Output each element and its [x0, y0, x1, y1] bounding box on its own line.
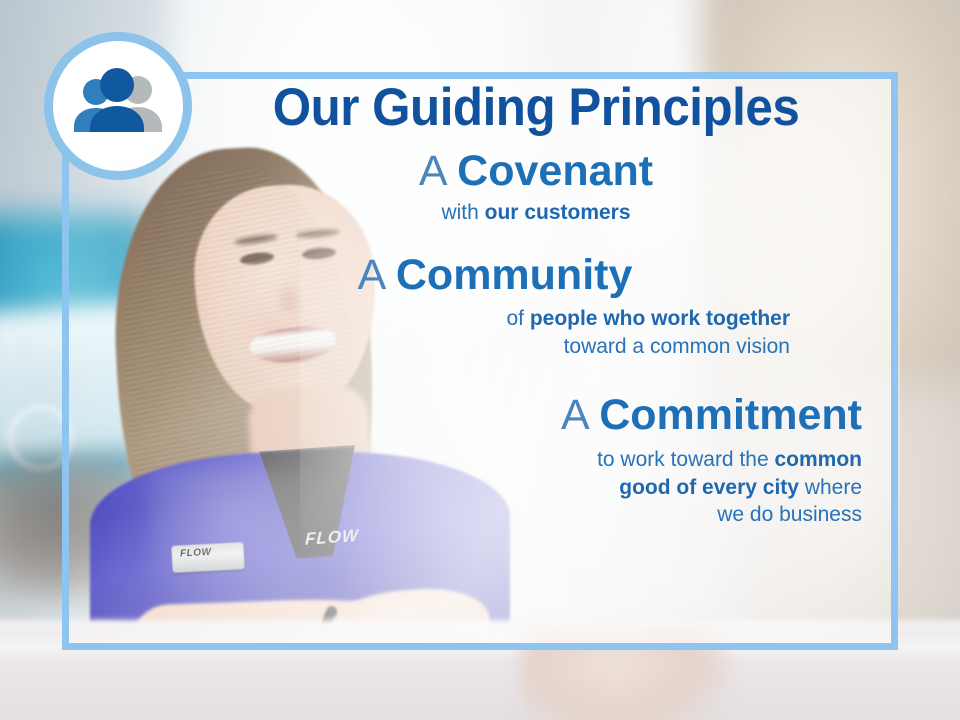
principle-covenant-sub-bold: our customers: [485, 201, 631, 224]
principle-covenant: A Covenant with our customers: [200, 148, 872, 226]
principle-covenant-lead: A: [419, 147, 457, 195]
principle-commitment-lead: A: [561, 391, 599, 439]
principle-commitment-sub-bold: common: [774, 448, 862, 471]
principle-commitment-sub-line2-plain: where: [799, 476, 862, 499]
principle-community-sub-bold: people who work together: [530, 307, 790, 330]
principle-commitment-sub-plain: to work toward the: [597, 448, 774, 471]
desk-surface: [0, 620, 960, 720]
employee-shirt-logo: FLOW: [305, 526, 360, 550]
principle-covenant-subtext: with our customers: [200, 199, 872, 226]
principle-community: A Community of people who work together …: [200, 252, 872, 360]
principle-community-keyword: Community: [396, 251, 633, 299]
principle-covenant-keyword: Covenant: [457, 147, 653, 195]
principle-covenant-sub-plain: with: [441, 201, 484, 224]
principles-content: Our Guiding Principles A Covenant with o…: [200, 80, 872, 528]
principle-community-sub-plain: of: [506, 307, 529, 330]
principle-community-subtext: of people who work together toward a com…: [200, 305, 790, 360]
page-title: Our Guiding Principles: [224, 80, 849, 136]
principle-community-lead: A: [358, 251, 396, 299]
desk-edge: [0, 642, 960, 658]
principle-commitment-sub-line2-bold: good of every city: [619, 476, 799, 499]
principle-covenant-heading: A Covenant: [200, 148, 872, 194]
principle-community-sub-line2: toward a common vision: [564, 335, 790, 358]
principle-commitment-keyword: Commitment: [599, 391, 862, 439]
principle-commitment-heading: A Commitment: [200, 392, 862, 438]
principle-community-heading: A Community: [200, 252, 790, 298]
people-group-icon: [66, 66, 170, 146]
badge-circle: [44, 32, 192, 180]
principle-commitment: A Commitment to work toward the common g…: [200, 392, 872, 528]
guiding-principles-graphic: FLOW FLOW Our: [0, 0, 960, 720]
customer-hand: [520, 625, 730, 720]
principle-commitment-sub-line3: we do business: [717, 503, 862, 526]
principle-commitment-subtext: to work toward the common good of every …: [200, 446, 862, 528]
